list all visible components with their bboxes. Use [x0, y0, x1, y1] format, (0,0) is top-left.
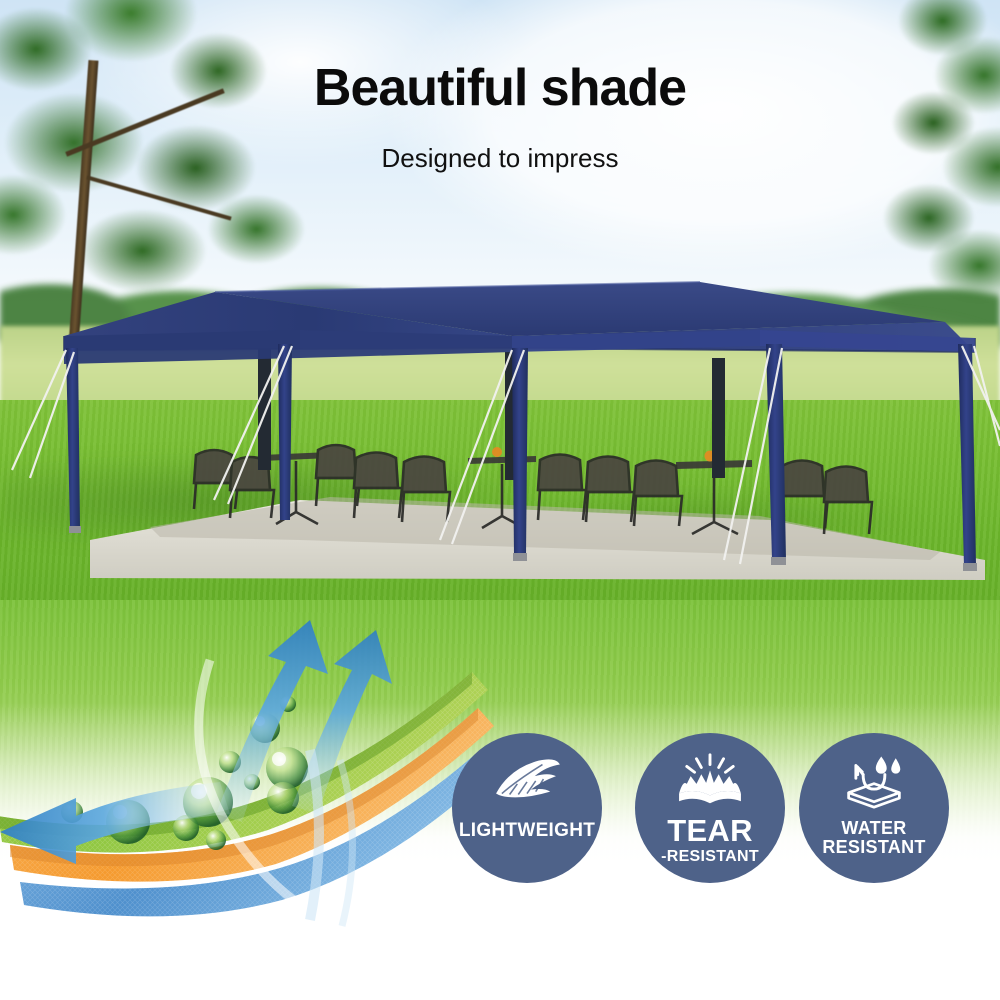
product-photo-scene: Beautiful shade Designed to impress — [0, 0, 1000, 620]
water-icon — [835, 751, 913, 809]
feature-badges: LIGHTWEIGHT TEAR -RESISTANT — [452, 733, 952, 885]
badge-tear-label: TEAR — [667, 815, 753, 848]
tear-icon — [671, 751, 749, 809]
page-title: Beautiful shade — [0, 62, 1000, 114]
badge-lightweight-label: LIGHTWEIGHT — [459, 821, 595, 841]
badge-water-label-second: RESISTANT — [822, 838, 925, 857]
badge-tear-resistant[interactable]: TEAR -RESISTANT — [635, 733, 785, 883]
fabric-layers-diagram — [0, 600, 500, 930]
badge-water-resistant[interactable]: WATER RESISTANT — [799, 733, 949, 883]
badge-water-label: WATER — [841, 819, 906, 838]
page-subtitle: Designed to impress — [0, 145, 1000, 171]
badge-tear-label-second: -RESISTANT — [661, 849, 759, 866]
leaf-icon — [488, 751, 566, 809]
badge-lightweight[interactable]: LIGHTWEIGHT — [452, 733, 602, 883]
product-marketing-image: Beautiful shade Designed to impress — [0, 0, 1000, 1000]
